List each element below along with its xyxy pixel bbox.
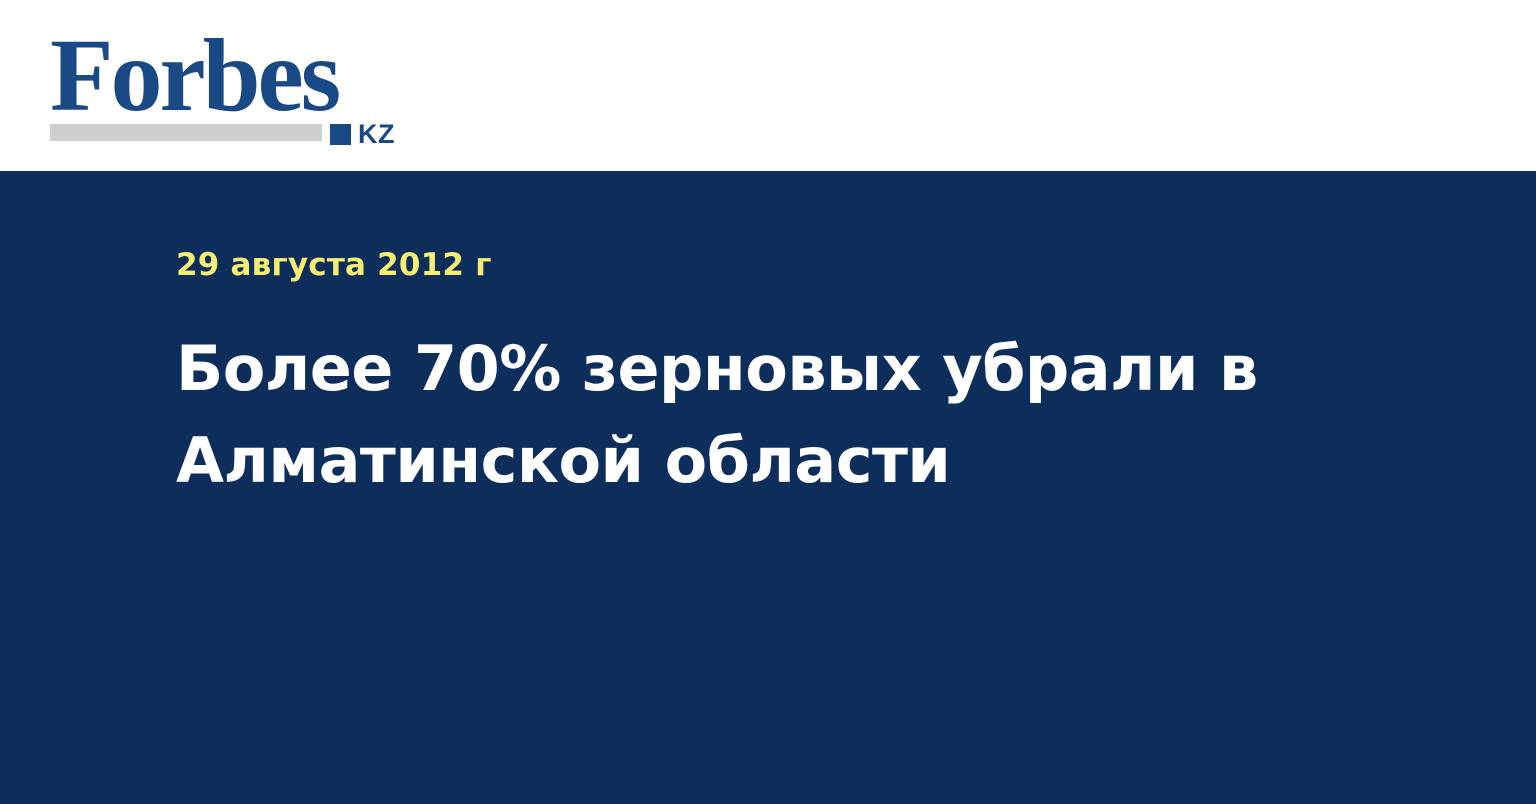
brand-square-icon [330, 124, 351, 145]
article-hero-banner: 29 августа 2012 г Более 70% зерновых убр… [0, 171, 1536, 804]
logo-tld-group: KZ [330, 121, 395, 148]
logo-rule-divider [50, 124, 322, 141]
article-hero-page: Forbes KZ 29 августа 2012 г Более 70% зе… [0, 0, 1536, 804]
article-headline: Более 70% зерновых убрали в Алматинской … [176, 323, 1276, 507]
forbes-kz-logo[interactable]: Forbes KZ [50, 24, 410, 144]
site-header: Forbes KZ [0, 0, 1536, 171]
logo-tld-label: KZ [358, 121, 395, 148]
article-publish-date: 29 августа 2012 г [176, 245, 1356, 285]
forbes-wordmark: Forbes [50, 24, 338, 128]
article-hero-content: 29 августа 2012 г Более 70% зерновых убр… [176, 245, 1356, 507]
